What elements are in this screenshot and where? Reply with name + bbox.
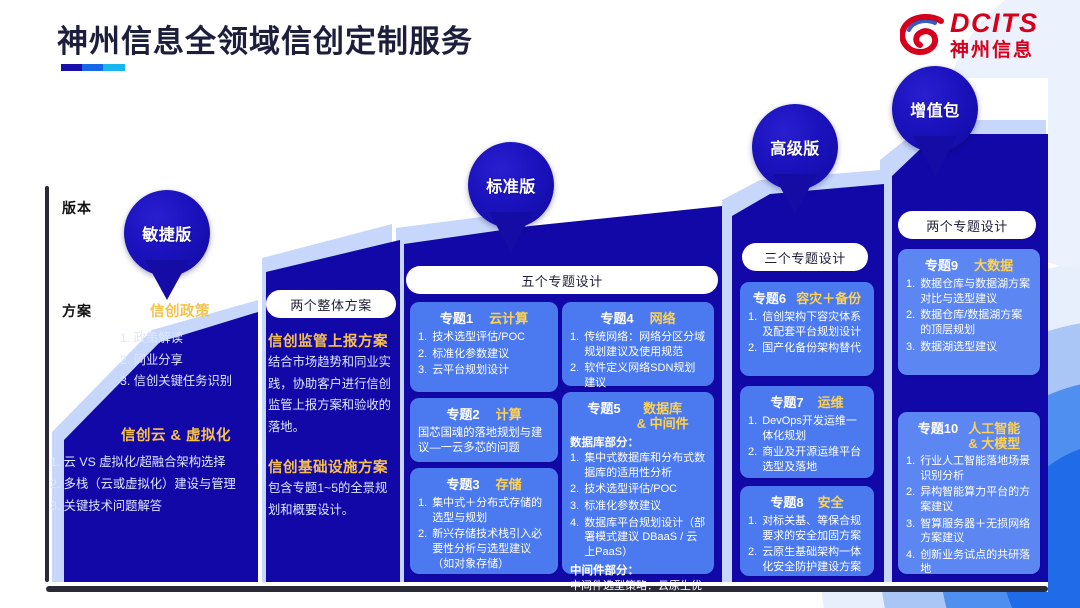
list-item: 2.数据仓库/数据湖方案的顶层规划 bbox=[906, 308, 1032, 337]
slide-canvas: 神州信息全领域信创定制服务 DCITS 神州信息 版本 方案 敏捷版 标准版 高… bbox=[0, 0, 1080, 608]
topic-card-8[interactable]: 专题8 安全 1.对标关基、等保合规要求的安全加固方案 2.云原生基础架构一体化… bbox=[740, 486, 874, 576]
list-item: 3. 关键技术问题解答 bbox=[50, 496, 262, 518]
topic-number: 专题4 bbox=[600, 308, 633, 327]
topic-card-4[interactable]: 专题4 网络 1.传统网络：网络分区分域规划建议及使用规范 2.软件定义网络SD… bbox=[562, 302, 714, 386]
topic-card-2[interactable]: 专题2 计算 国芯国魂的落地规划与建议—一云多芯的问题 bbox=[410, 398, 558, 462]
pin-standard[interactable]: 标准版 bbox=[468, 142, 554, 252]
page-title: 神州信息全领域信创定制服务 bbox=[57, 16, 473, 61]
pin-label: 敏捷版 bbox=[142, 221, 192, 245]
pin-tail bbox=[773, 174, 817, 214]
pill-three-topics[interactable]: 三个专题设计 bbox=[742, 243, 868, 271]
topic-name: 安全 bbox=[818, 496, 844, 511]
list-item: 2.技术选型评估/POC bbox=[570, 482, 706, 497]
list-item: 1.传统网络：网络分区分域规划建议及使用规范 bbox=[570, 330, 706, 359]
list-item: 2.软件定义网络SDN规划建议 bbox=[570, 361, 706, 390]
list-item: 2.标准化参数建议 bbox=[418, 347, 550, 362]
logo-text-en: DCITS bbox=[950, 10, 1039, 37]
dcits-spiral-icon bbox=[900, 14, 946, 58]
axis-line bbox=[45, 186, 49, 582]
topic-number: 专题1 bbox=[440, 308, 473, 327]
pin-tail bbox=[489, 212, 533, 252]
list-item: 3.智算服务器＋无损网络方案建议 bbox=[906, 517, 1032, 546]
axis-label-version: 版本 bbox=[62, 198, 92, 218]
list-item: 3.云平台规划设计 bbox=[418, 363, 550, 378]
section-list-policy: 1. 政策解读 2. 同业分享 3. 信创关键任务识别 bbox=[120, 328, 256, 393]
list-item: 1.行业人工智能落地场景识别分析 bbox=[906, 454, 1032, 483]
section-list-cloud: 1. 云 VS 虚拟化/超融合架构选择 2. 多栈（云或虚拟化）建设与管理 3.… bbox=[50, 452, 262, 518]
list-item: 2.异构智能算力平台的方案建议 bbox=[906, 485, 1032, 514]
list-item: 2.新兴存储技术栈引入必要性分析与选型建议（如对象存储） bbox=[418, 527, 550, 571]
topic-plain-middleware: 中间件选型策略：云原生优先+传统信创中间件+开源管理 bbox=[570, 579, 706, 608]
list-item: 3. 信创关键任务识别 bbox=[120, 371, 256, 393]
title-accent-bar bbox=[61, 64, 125, 71]
topic-name: 计算 bbox=[496, 408, 522, 423]
topic-subheading-middleware: 中间件部分： bbox=[570, 562, 706, 578]
logo-text-cn: 神州信息 bbox=[950, 39, 1039, 63]
topic-item-list: 1.数据仓库与数据湖方案对比与选型建议 2.数据仓库/数据湖方案的顶层规划 3.… bbox=[906, 277, 1032, 354]
topic-item-list: 1.DevOps开发运维一体化规划 2.商业及开源运维平台选型及落地 bbox=[748, 414, 866, 475]
topic-number: 专题9 bbox=[925, 255, 958, 274]
list-item: 1.集中式＋分布式存储的选型与规划 bbox=[418, 496, 550, 525]
topic-card-5[interactable]: 专题5 数据库 & 中间件 数据库部分： 1.集中式数据库和分布式数据库的适用性… bbox=[562, 392, 714, 574]
list-item: 4.创新业务试点的共研落地 bbox=[906, 548, 1032, 577]
topic-name: 人工智能 & 大模型 bbox=[968, 422, 1020, 451]
section-heading-cloud: 信创云 & 虚拟化 bbox=[96, 424, 256, 445]
section-paragraph-supervision: 结合市场趋势和同业实践，协助客户进行信创监管上报方案和验收的落地。 bbox=[268, 352, 396, 438]
pin-value-added[interactable]: 增值包 bbox=[892, 66, 978, 176]
topic-card-10[interactable]: 专题10 人工智能 & 大模型 1.行业人工智能落地场景识别分析 2.异构智能算… bbox=[898, 412, 1040, 574]
topic-item-list: 1.传统网络：网络分区分域规划建议及使用规范 2.软件定义网络SDN规划建议 bbox=[570, 330, 706, 391]
topic-item-list: 1.对标关基、等保合规要求的安全加固方案 2.云原生基础架构一体化安全防护建设方… bbox=[748, 514, 866, 575]
topic-name: 数据库 & 中间件 bbox=[637, 402, 689, 431]
topic-name: 云计算 bbox=[489, 312, 528, 327]
topic-item-list: 1.信创架构下容灾体系及配套平台规划设计 2.国产化备份架构替代 bbox=[748, 310, 866, 356]
section-paragraph-infrastructure: 包含专题1~5的全景规划和概要设计。 bbox=[268, 478, 396, 521]
topic-card-9[interactable]: 专题9 大数据 1.数据仓库与数据湖方案对比与选型建议 2.数据仓库/数据湖方案… bbox=[898, 249, 1040, 375]
list-item: 2.云原生基础架构一体化安全防护建设方案 bbox=[748, 545, 866, 574]
list-item: 3.标准化参数建议 bbox=[570, 499, 706, 514]
pin-tail bbox=[145, 260, 189, 300]
topic-number: 专题3 bbox=[446, 474, 479, 493]
topic-name: 存储 bbox=[496, 478, 522, 493]
topic-name: 运维 bbox=[818, 396, 844, 411]
section-heading-infrastructure: 信创基础设施方案 bbox=[268, 456, 394, 477]
topic-note: 国芯国魂的落地规划与建议—一云多芯的问题 bbox=[418, 426, 550, 457]
list-item: 3.数据湖选型建议 bbox=[906, 340, 1032, 355]
topic-number: 专题2 bbox=[446, 404, 479, 423]
list-item: 1.对标关基、等保合规要求的安全加固方案 bbox=[748, 514, 866, 543]
pill-two-topics[interactable]: 两个专题设计 bbox=[898, 211, 1036, 239]
pin-label: 标准版 bbox=[486, 173, 536, 197]
list-item: 2. 同业分享 bbox=[120, 350, 256, 372]
topic-item-list: 1.行业人工智能落地场景识别分析 2.异构智能算力平台的方案建议 3.智算服务器… bbox=[906, 454, 1032, 577]
list-item: 1. 政策解读 bbox=[120, 328, 256, 350]
list-item: 2.国产化备份架构替代 bbox=[748, 341, 866, 356]
topic-number: 专题5 bbox=[587, 398, 620, 417]
topic-name: 容灾＋备份 bbox=[796, 292, 861, 307]
topic-card-6[interactable]: 专题6 容灾＋备份 1.信创架构下容灾体系及配套平台规划设计 2.国产化备份架构… bbox=[740, 282, 874, 376]
topic-number: 专题10 bbox=[918, 418, 958, 437]
topic-name: 大数据 bbox=[974, 259, 1013, 274]
list-item: 1.技术选型评估/POC bbox=[418, 330, 550, 345]
topic-subheading-database: 数据库部分： bbox=[570, 434, 706, 450]
list-item: 1.集中式数据库和分布式数据库的适用性分析 bbox=[570, 451, 706, 480]
topic-item-list: 1.集中式数据库和分布式数据库的适用性分析 2.技术选型评估/POC 3.标准化… bbox=[570, 451, 706, 559]
topic-name: 网络 bbox=[650, 312, 676, 327]
topic-card-1[interactable]: 专题1 云计算 1.技术选型评估/POC 2.标准化参数建议 3.云平台规划设计 bbox=[410, 302, 558, 392]
list-item: 4.数据库平台规划设计（部署模式建议 DBaaS / 云上PaaS） bbox=[570, 516, 706, 560]
pill-two-overall-plans[interactable]: 两个整体方案 bbox=[266, 290, 396, 318]
topic-card-7[interactable]: 专题7 运维 1.DevOps开发运维一体化规划 2.商业及开源运维平台选型及落… bbox=[740, 386, 874, 478]
topic-item-list: 1.技术选型评估/POC 2.标准化参数建议 3.云平台规划设计 bbox=[418, 330, 550, 378]
list-item: 2. 多栈（云或虚拟化）建设与管理 bbox=[50, 474, 262, 496]
pin-label: 高级版 bbox=[770, 135, 820, 159]
pin-advanced[interactable]: 高级版 bbox=[752, 104, 838, 214]
brand-logo: DCITS 神州信息 bbox=[900, 8, 1066, 66]
list-item: 1. 云 VS 虚拟化/超融合架构选择 bbox=[50, 452, 262, 474]
topic-number: 专题8 bbox=[770, 492, 803, 511]
pin-tail bbox=[913, 136, 957, 176]
list-item: 2.商业及开源运维平台选型及落地 bbox=[748, 445, 866, 474]
topic-card-3[interactable]: 专题3 存储 1.集中式＋分布式存储的选型与规划 2.新兴存储技术栈引入必要性分… bbox=[410, 468, 558, 574]
section-heading-supervision: 信创监管上报方案 bbox=[268, 330, 394, 351]
pin-agile[interactable]: 敏捷版 bbox=[124, 190, 210, 300]
list-item: 1.信创架构下容灾体系及配套平台规划设计 bbox=[748, 310, 866, 339]
topic-number: 专题7 bbox=[770, 392, 803, 411]
list-item: 1.DevOps开发运维一体化规划 bbox=[748, 414, 866, 443]
list-item: 1.数据仓库与数据湖方案对比与选型建议 bbox=[906, 277, 1032, 306]
section-heading-policy: 信创政策 bbox=[110, 300, 250, 321]
pill-five-topics[interactable]: 五个专题设计 bbox=[406, 266, 718, 294]
pin-label: 增值包 bbox=[910, 97, 960, 121]
axis-label-solution: 方案 bbox=[62, 301, 92, 321]
topic-number: 专题6 bbox=[753, 288, 786, 307]
topic-item-list: 1.集中式＋分布式存储的选型与规划 2.新兴存储技术栈引入必要性分析与选型建议（… bbox=[418, 496, 550, 571]
